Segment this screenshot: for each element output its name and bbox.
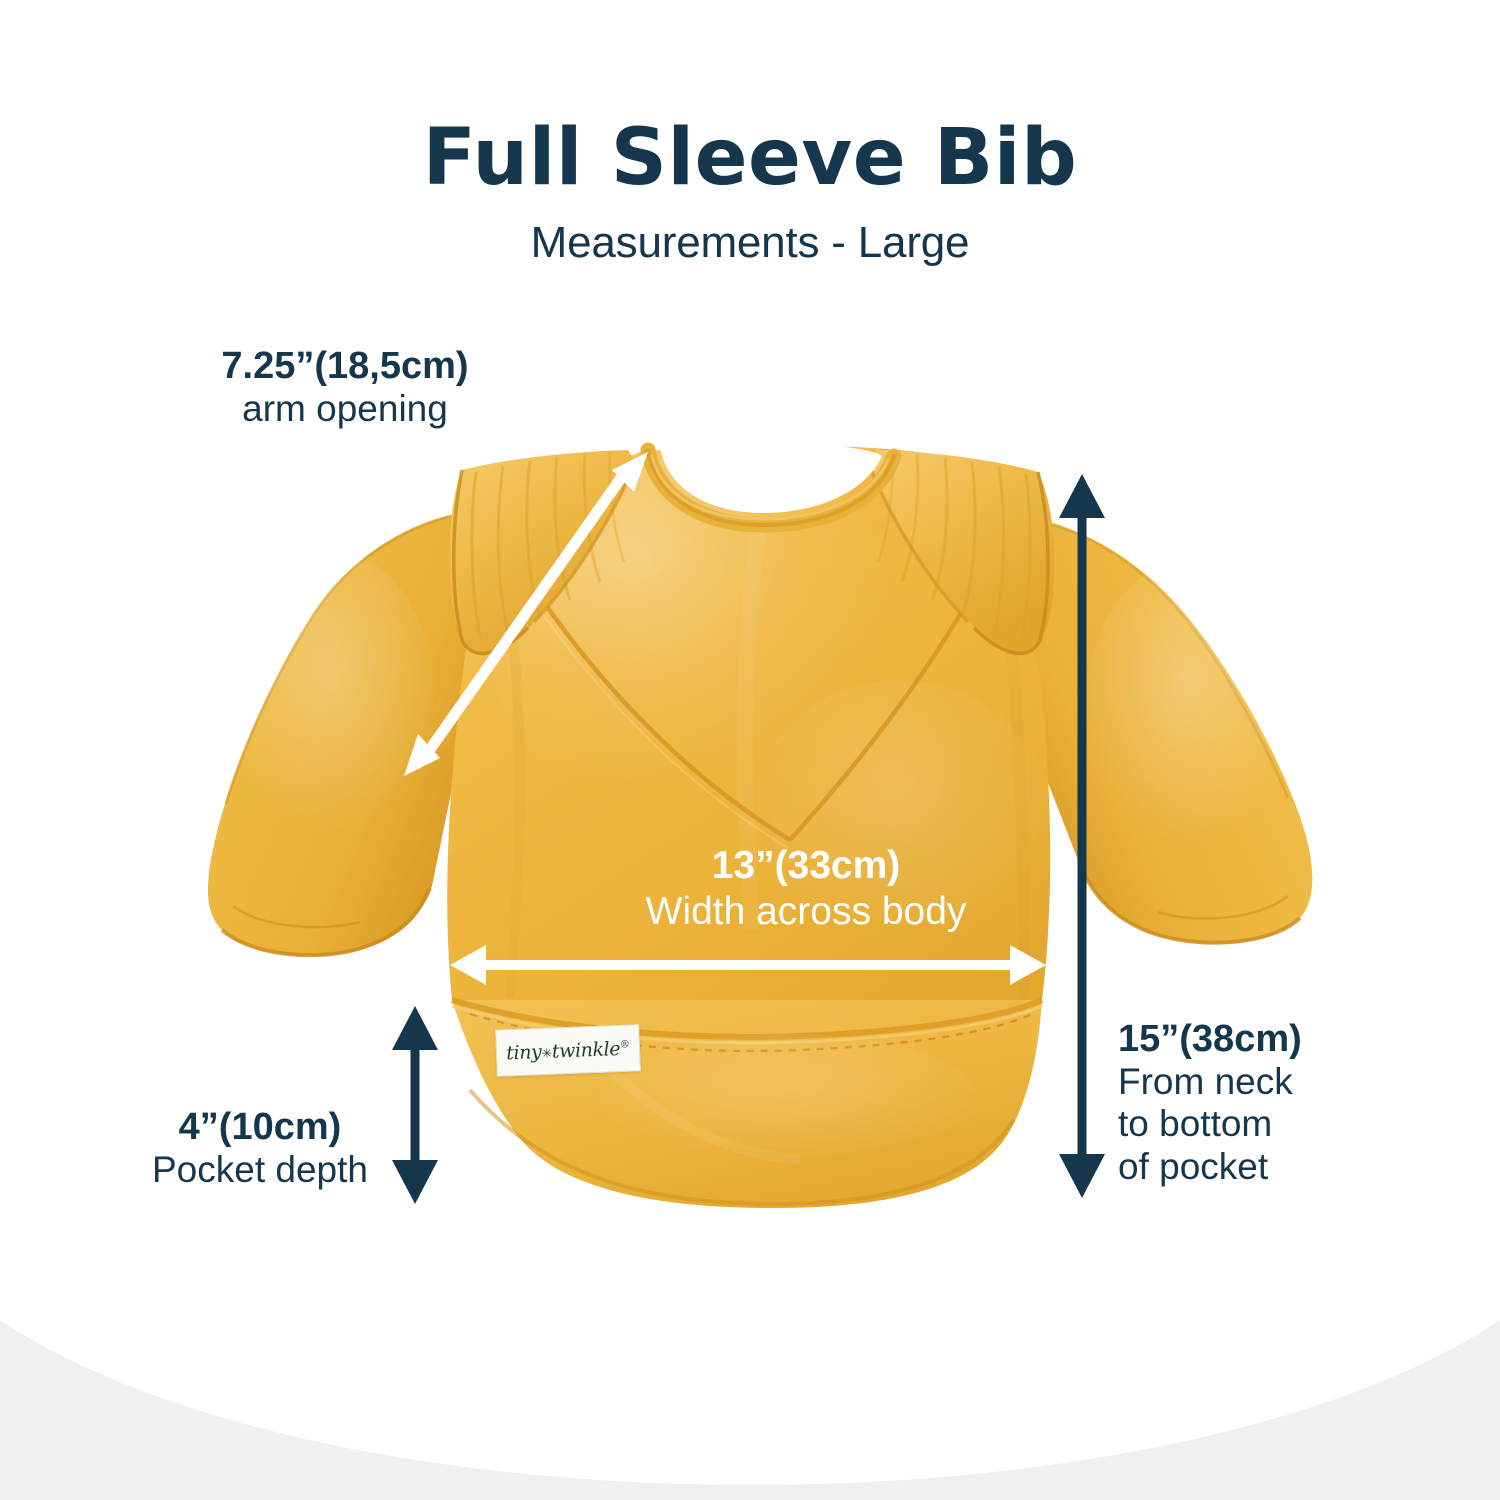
pocket-depth-arrow [392, 1006, 438, 1204]
arm-opening-value: 7.25”(18,5cm) [200, 345, 490, 388]
measurement-width-across-body: 13”(33cm) Width across body [596, 843, 1016, 935]
brand-label: tiny✳twinkle® [495, 1024, 641, 1076]
pocket-depth-description: Pocket depth [130, 1149, 390, 1191]
neck-to-pocket-value: 15”(38cm) [1118, 1018, 1388, 1061]
left-sleeve [208, 512, 470, 956]
measurement-diagram-page: Full Sleeve Bib Measurements - Large [0, 0, 1500, 1500]
width-across-body-description: Width across body [596, 889, 1016, 935]
neck-to-pocket-line-2: to bottom [1118, 1103, 1388, 1145]
measurement-arm-opening: 7.25”(18,5cm) arm opening [200, 345, 490, 430]
arm-opening-description: arm opening [200, 388, 490, 430]
pocket-depth-value: 4”(10cm) [130, 1106, 390, 1149]
footer-curve-band [0, 1290, 1500, 1500]
neck-to-pocket-line-3: of pocket [1118, 1146, 1388, 1188]
measurement-neck-to-pocket: 15”(38cm) From neck to bottom of pocket [1118, 1018, 1388, 1188]
product-illustration [0, 0, 1500, 1500]
right-sleeve [1016, 516, 1312, 944]
neck-to-pocket-line-1: From neck [1118, 1061, 1388, 1103]
brand-label-text: tiny✳twinkle® [506, 1037, 630, 1064]
measurement-pocket-depth: 4”(10cm) Pocket depth [130, 1106, 390, 1191]
width-across-body-value: 13”(33cm) [596, 843, 1016, 889]
